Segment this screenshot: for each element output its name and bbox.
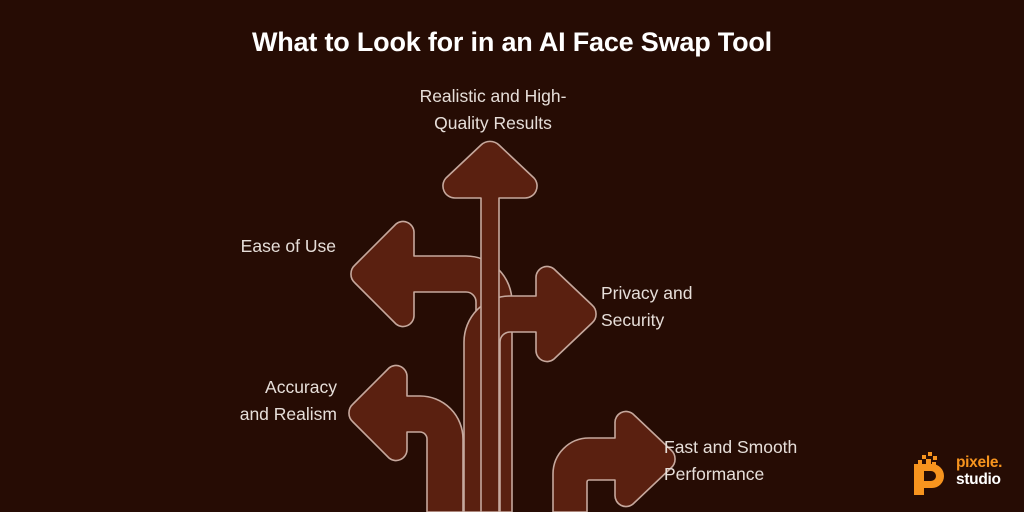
infographic-canvas: What to Look for in an AI Face Swap Tool…	[0, 0, 1024, 512]
label-ease-of-use: Ease of Use	[120, 233, 336, 260]
brand-name-secondary: studio	[956, 471, 1002, 488]
brand-logo: pixele. studio	[906, 450, 1014, 495]
pixele-p-mark-icon	[906, 450, 952, 495]
brand-name-primary: pixele.	[956, 454, 1002, 471]
label-realistic: Realistic and High- Quality Results	[399, 83, 587, 137]
label-privacy: Privacy and Security	[601, 280, 801, 334]
brand-wordmark: pixele. studio	[956, 454, 1002, 488]
label-accuracy: Accuracy and Realism	[120, 374, 337, 428]
label-performance: Fast and Smooth Performance	[664, 434, 894, 488]
